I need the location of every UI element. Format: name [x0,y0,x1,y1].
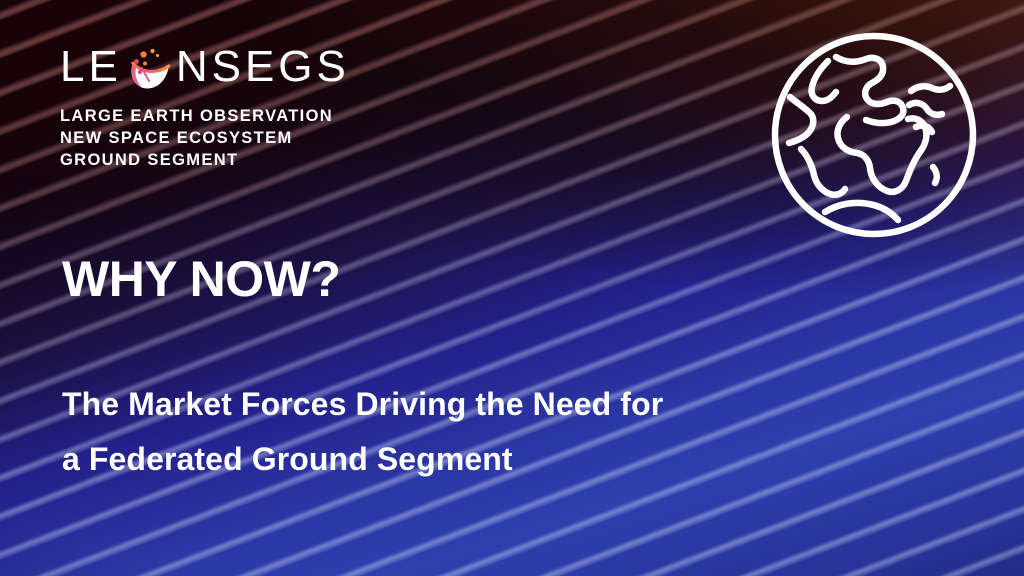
brand-tagline: LARGE EARTH OBSERVATION NEW SPACE ECOSYS… [60,106,350,172]
tagline-line-1: LARGE EARTH OBSERVATION [60,106,350,128]
page-title: WHY NOW? [62,254,340,304]
subtitle-line-2: a Federated Ground Segment [62,432,663,487]
presentation-slide: LE [0,0,1024,576]
subtitle-line-1: The Market Forces Driving the Need for [62,377,663,432]
logo-text-prefix: LE [60,45,122,89]
globe-icon [770,31,978,239]
page-subtitle: The Market Forces Driving the Need for a… [62,377,663,487]
logo-wordmark: LE [60,44,350,90]
brand-logo: LE [60,44,350,172]
logo-text-suffix: NSEGS [176,45,350,89]
satellite-dish-icon [123,45,175,91]
tagline-line-2: NEW SPACE ECOSYSTEM [60,128,350,150]
tagline-line-3: GROUND SEGMENT [60,150,350,172]
